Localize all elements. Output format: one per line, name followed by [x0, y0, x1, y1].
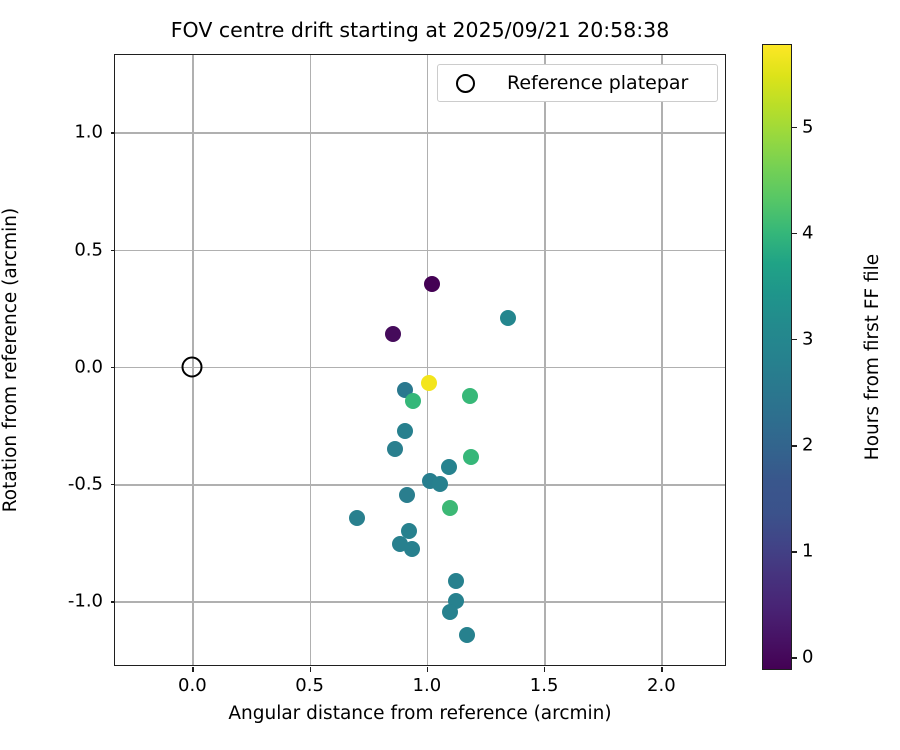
- figure-canvas: FOV centre drift starting at 2025/09/21 …: [0, 0, 900, 750]
- x-axis-tick: [310, 667, 311, 672]
- gridline-vertical: [310, 55, 312, 665]
- scatter-point: [385, 326, 401, 342]
- gridline-horizontal: [115, 367, 725, 369]
- colorbar-tick: [792, 445, 797, 447]
- legend-entry-label: Reference platepar: [507, 72, 688, 94]
- y-axis-tick: [111, 132, 116, 133]
- colorbar-tick-label: 1: [802, 541, 813, 562]
- colorbar-tick-label: 2: [802, 435, 813, 456]
- colorbar-tick: [792, 339, 797, 341]
- y-axis-tick-label: -0.5: [68, 474, 103, 495]
- gridline-vertical: [427, 55, 429, 665]
- colorbar-tick-label: 5: [802, 116, 813, 137]
- scatter-point: [459, 627, 475, 643]
- gridline-horizontal: [115, 132, 725, 134]
- y-axis-tick-label: 1.0: [74, 122, 103, 143]
- x-axis-tick: [192, 667, 193, 672]
- chart-title: FOV centre drift starting at 2025/09/21 …: [114, 18, 726, 42]
- colorbar-tick: [792, 233, 797, 235]
- gridline-vertical: [661, 55, 663, 665]
- y-axis-tick: [111, 250, 116, 251]
- x-axis-tick-label: 1.0: [413, 675, 442, 696]
- colorbar-tick: [792, 127, 797, 129]
- y-axis-tick-label: 0.0: [74, 356, 103, 377]
- colorbar-label: Hours from first FF file: [862, 254, 883, 460]
- gridline-horizontal: [115, 484, 725, 486]
- colorbar-tick-label: 0: [802, 647, 813, 668]
- reference-platepar-marker-icon: [456, 74, 475, 93]
- scatter-point: [405, 393, 421, 409]
- x-axis-tick: [544, 667, 545, 672]
- scatter-point: [397, 423, 413, 439]
- scatter-point: [442, 500, 458, 516]
- chart-legend[interactable]: Reference platepar: [437, 64, 718, 102]
- scatter-point: [462, 388, 478, 404]
- scatter-point: [404, 541, 420, 557]
- gridline-vertical: [544, 55, 546, 665]
- x-axis-tick-label: 0.0: [178, 675, 207, 696]
- scatter-point: [432, 476, 448, 492]
- scatter-point: [349, 510, 365, 526]
- reference-platepar-point: [182, 356, 203, 377]
- scatter-point: [441, 459, 457, 475]
- x-axis-tick-label: 0.5: [295, 675, 324, 696]
- scatter-point: [424, 276, 440, 292]
- y-axis-tick-label: 0.5: [74, 239, 103, 260]
- plot-axes: 0.00.51.01.52.0-1.0-0.50.00.51.0: [114, 54, 726, 666]
- plot-area: [115, 55, 725, 665]
- scatter-point: [500, 310, 516, 326]
- y-axis-label: Rotation from reference (arcmin): [0, 208, 21, 512]
- colorbar-tick: [792, 657, 797, 659]
- scatter-point: [448, 573, 464, 589]
- scatter-point: [442, 604, 458, 620]
- colorbar: 012345: [762, 44, 792, 670]
- colorbar-tick-label: 3: [802, 328, 813, 349]
- y-axis-tick: [111, 601, 116, 602]
- scatter-point: [463, 449, 479, 465]
- gridline-horizontal: [115, 250, 725, 252]
- scatter-point: [421, 375, 437, 391]
- x-axis-tick: [661, 667, 662, 672]
- y-axis-tick: [111, 367, 116, 368]
- scatter-point: [387, 441, 403, 457]
- y-axis-tick: [111, 484, 116, 485]
- x-axis-tick-label: 1.5: [530, 675, 559, 696]
- gridline-horizontal: [115, 601, 725, 603]
- colorbar-tick: [792, 551, 797, 553]
- scatter-point: [399, 487, 415, 503]
- colorbar-gradient: [762, 44, 792, 670]
- y-axis-tick-label: -1.0: [68, 591, 103, 612]
- x-axis-tick: [427, 667, 428, 672]
- x-axis-tick-label: 2.0: [647, 675, 676, 696]
- colorbar-tick-label: 4: [802, 222, 813, 243]
- x-axis-label: Angular distance from reference (arcmin): [114, 703, 726, 724]
